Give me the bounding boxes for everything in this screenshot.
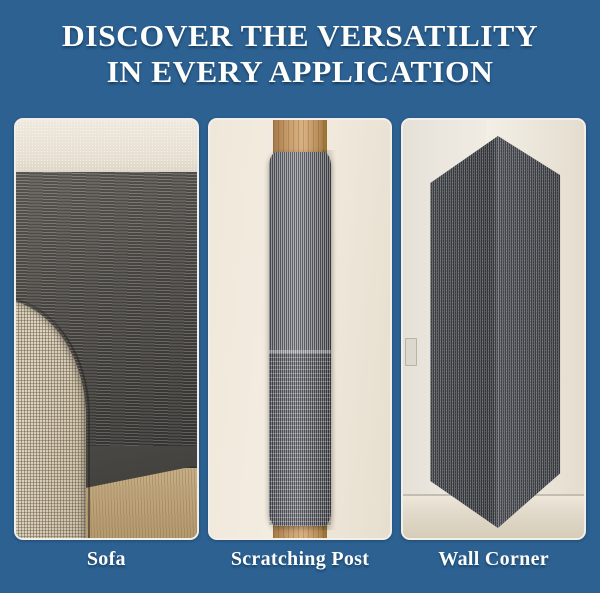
photo-panel-sofa[interactable] bbox=[14, 118, 199, 540]
wall-corner-photo bbox=[403, 120, 584, 538]
caption-row: Sofa Scratching Post Wall Corner bbox=[14, 544, 586, 578]
caption-sofa: Sofa bbox=[14, 544, 199, 578]
scratching-post-photo bbox=[210, 120, 391, 538]
product-infographic: DISCOVER THE VERSATILITY IN EVERY APPLIC… bbox=[0, 0, 600, 593]
caption-scratching-post: Scratching Post bbox=[208, 544, 393, 578]
post-carpet-lower-texture bbox=[269, 353, 331, 526]
caption-wall-corner: Wall Corner bbox=[401, 544, 586, 578]
photo-panel-wall-corner[interactable] bbox=[401, 118, 586, 540]
headline-line-2: IN EVERY APPLICATION bbox=[0, 54, 600, 90]
photo-panel-row bbox=[14, 118, 586, 540]
corner-wall-fixture bbox=[405, 338, 417, 366]
post-carpet-seam bbox=[269, 350, 331, 353]
headline-line-1: DISCOVER THE VERSATILITY bbox=[0, 18, 600, 54]
photo-panel-scratching-post[interactable] bbox=[208, 118, 393, 540]
corner-carpet-fold-line bbox=[430, 136, 560, 528]
sofa-wall-texture bbox=[16, 120, 197, 174]
headline-block: DISCOVER THE VERSATILITY IN EVERY APPLIC… bbox=[0, 18, 600, 90]
sofa-photo bbox=[16, 120, 197, 538]
